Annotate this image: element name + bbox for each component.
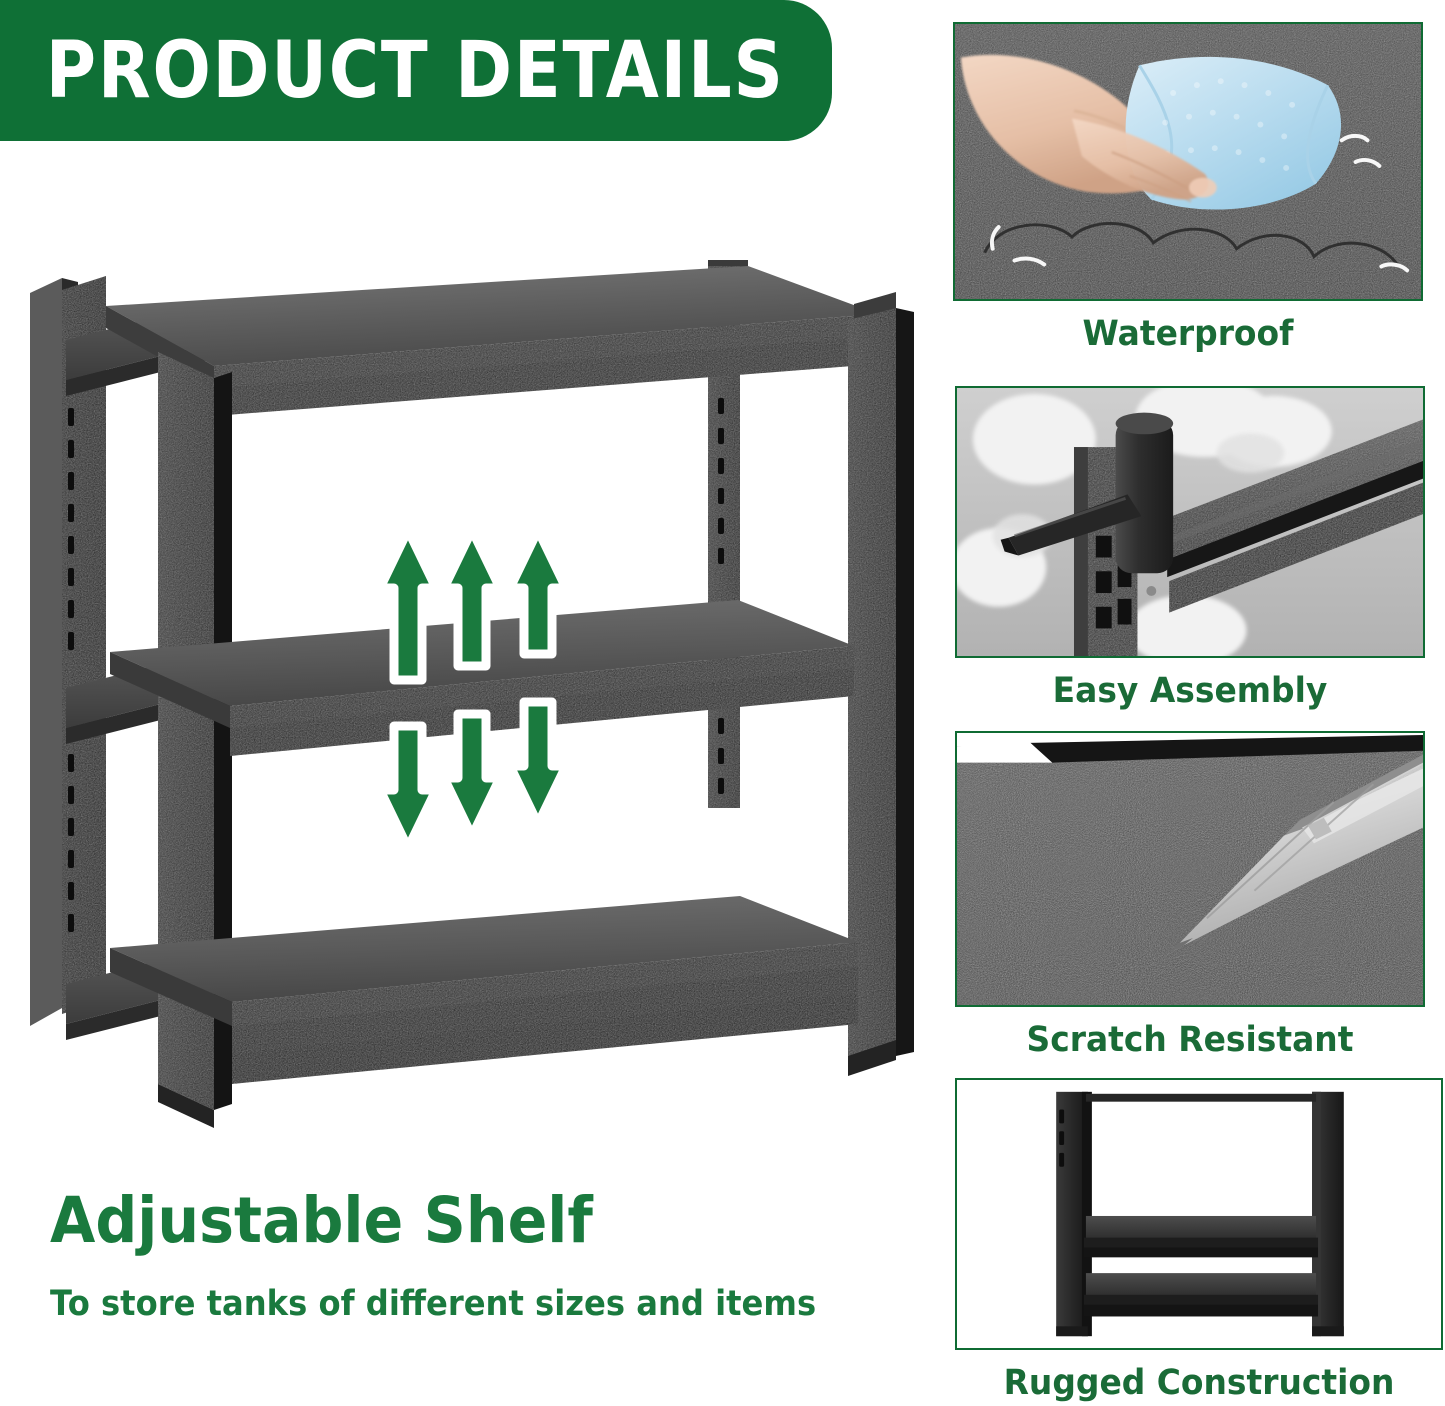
arrows-up-group [380, 530, 566, 680]
front-view-black-metal-shelf-image [957, 1080, 1441, 1348]
feature-caption-waterproof: Waterproof [967, 314, 1409, 354]
feature-image-frame [955, 731, 1425, 1007]
utility-knife-blade-on-shelf-surface-image [957, 733, 1423, 1005]
adjustable-shelf-subtitle: To store tanks of different sizes and it… [50, 1284, 860, 1324]
feature-caption-rugged-construction: Rugged Construction [970, 1363, 1429, 1403]
feature-image-frame [955, 1078, 1443, 1350]
hand-wiping-water-droplets-with-blue-cloth-image [955, 24, 1421, 299]
arrows-down-group [380, 702, 566, 848]
feature-caption-easy-assembly: Easy Assembly [969, 671, 1411, 711]
feature-card-rugged-construction: Rugged Construction [955, 1078, 1443, 1403]
page-title: PRODUCT DETAILS [0, 26, 785, 116]
shelf-illustration [18, 248, 918, 1138]
arrow-down-icon [380, 726, 436, 848]
rubber-mallet-tapping-shelf-post-image [957, 388, 1423, 656]
feature-card-scratch-resistant: Scratch Resistant [955, 731, 1425, 1060]
feature-card-waterproof: Waterproof [953, 22, 1423, 354]
feature-card-easy-assembly: Easy Assembly [955, 386, 1425, 711]
feature-caption-scratch-resistant: Scratch Resistant [969, 1020, 1411, 1060]
product-details-infographic: PRODUCT DETAILS [0, 0, 1445, 1406]
feature-image-frame [955, 386, 1425, 658]
product-details-banner: PRODUCT DETAILS [0, 0, 832, 141]
shelf-diagram-svg [18, 248, 918, 1138]
adjustable-shelf-title: Adjustable Shelf [50, 1188, 868, 1254]
adjustable-shelf-block: Adjustable Shelf To store tanks of diffe… [50, 1188, 930, 1324]
feature-image-frame [953, 22, 1423, 301]
